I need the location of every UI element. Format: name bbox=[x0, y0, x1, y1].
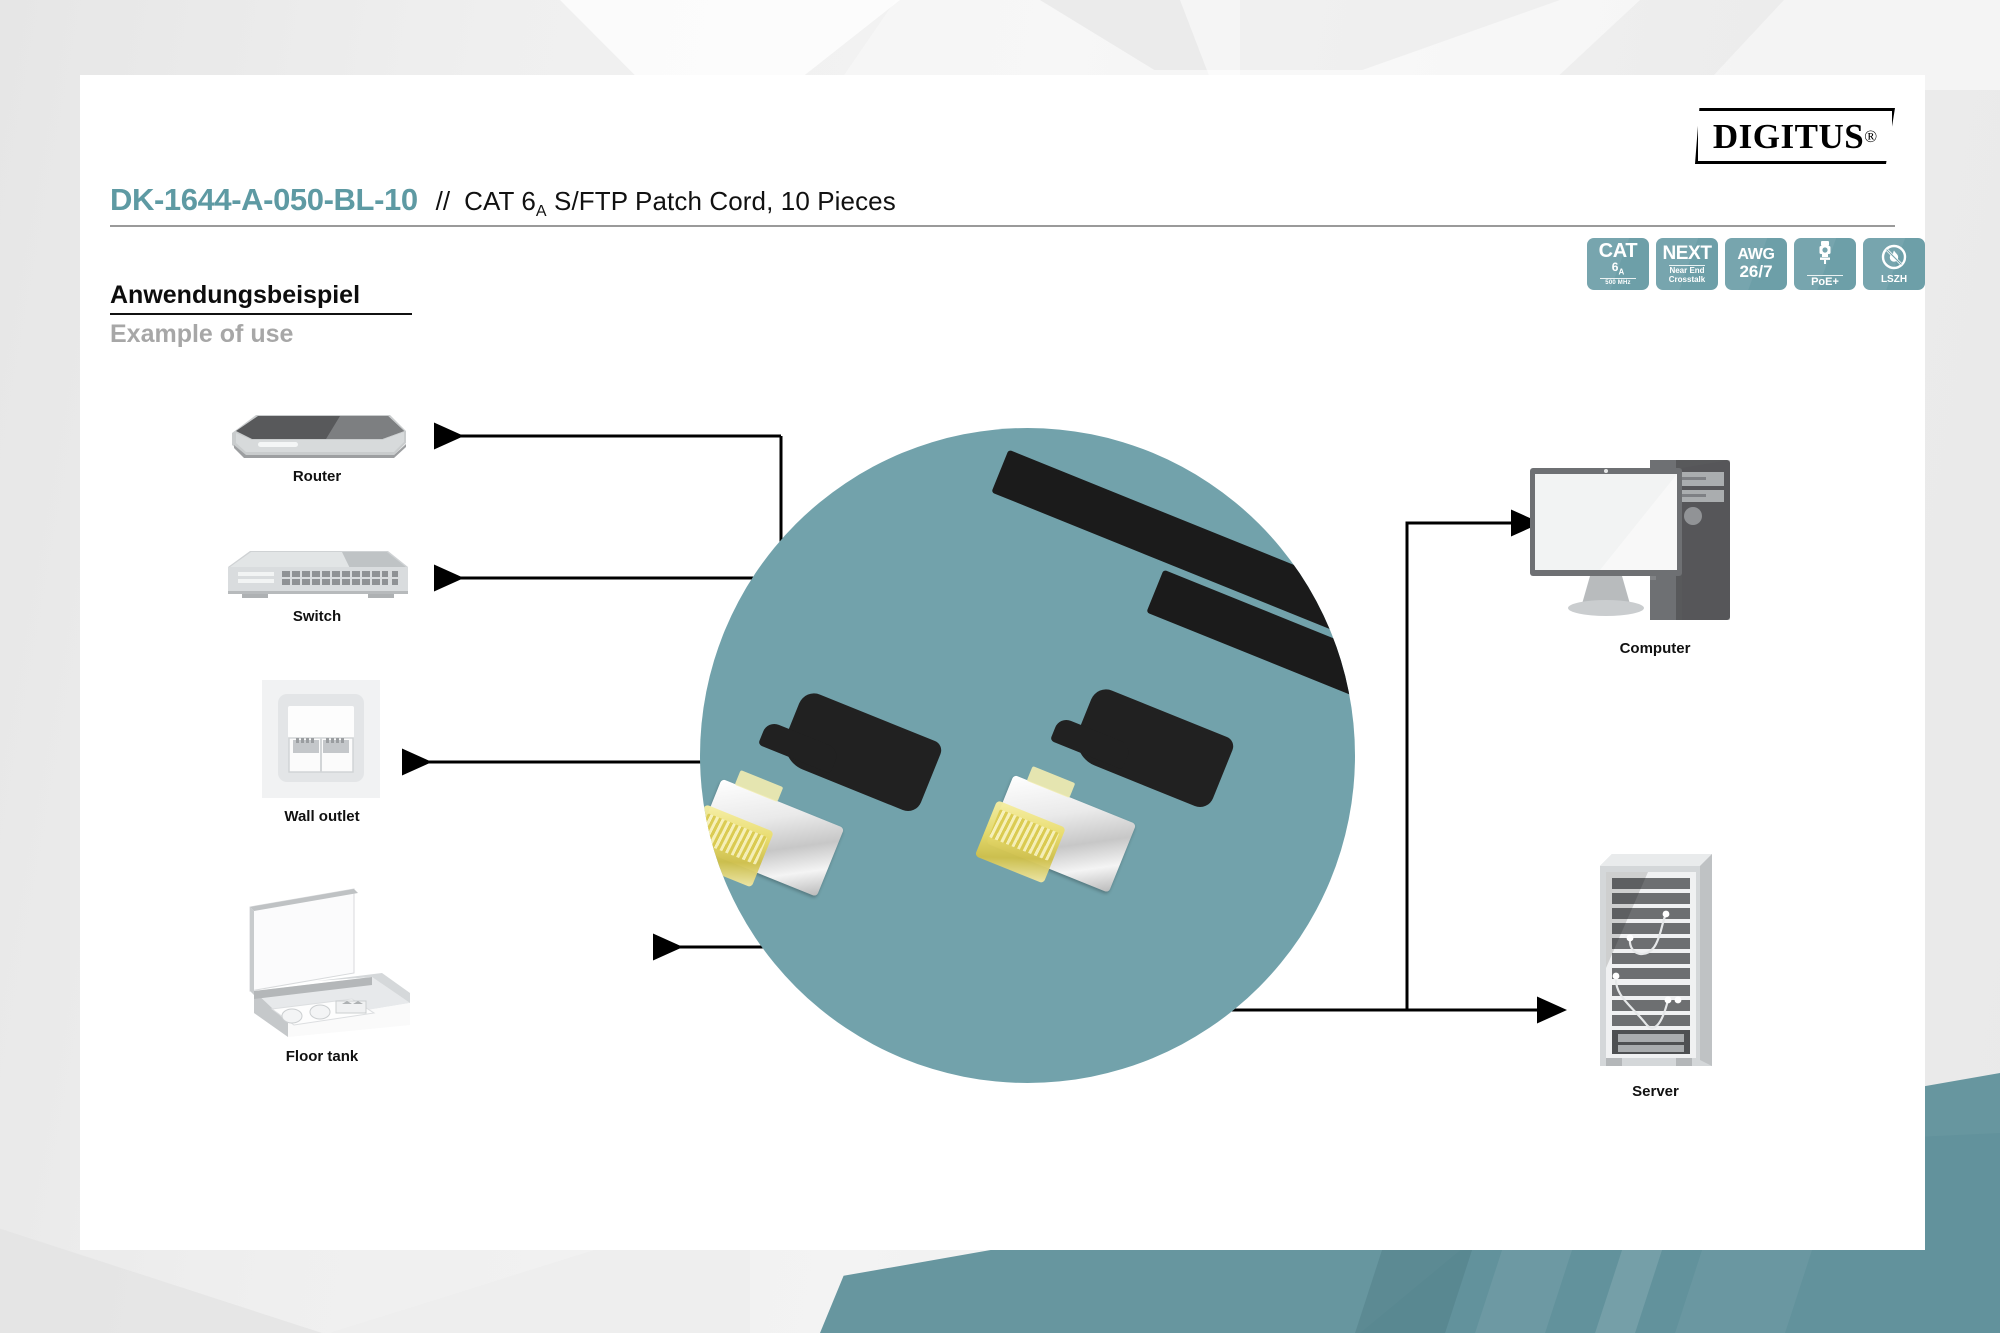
device-label-router: Router bbox=[222, 468, 412, 485]
rj45-connector-right bbox=[982, 724, 1222, 874]
computer-icon bbox=[1530, 450, 1780, 635]
device-label-switch: Switch bbox=[222, 608, 412, 625]
product-hero-circle bbox=[700, 428, 1355, 1083]
datasheet-page: DIGITUS® DK-1644-A-050-BL-10 // CAT 6A S… bbox=[0, 0, 2000, 1333]
wall-outlet-icon bbox=[262, 680, 382, 800]
device-label-wall-outlet: Wall outlet bbox=[222, 808, 422, 825]
switch-icon bbox=[222, 545, 412, 605]
rj45-connector-left bbox=[700, 728, 930, 878]
router-icon bbox=[222, 405, 412, 465]
floor-tank-icon bbox=[232, 885, 432, 1040]
server-icon bbox=[1588, 848, 1723, 1078]
device-label-computer: Computer bbox=[1530, 640, 1780, 657]
device-label-floor-tank: Floor tank bbox=[222, 1048, 422, 1065]
device-label-server: Server bbox=[1588, 1083, 1723, 1100]
